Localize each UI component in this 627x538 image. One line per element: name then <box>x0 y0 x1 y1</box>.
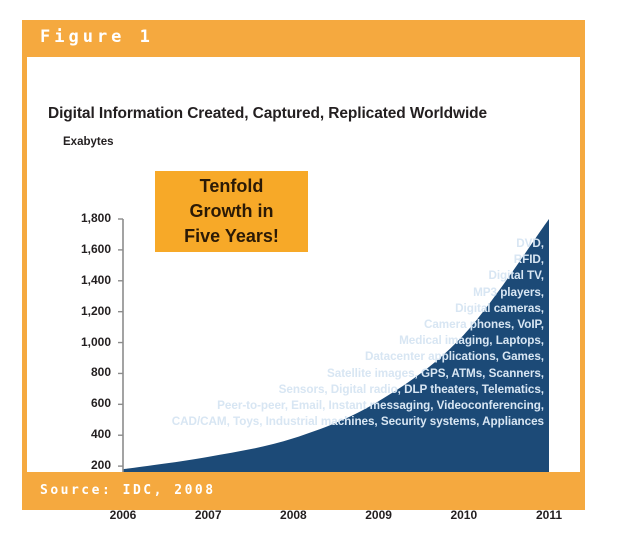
y-axis-tick-label: 200 <box>37 458 111 472</box>
y-axis-tick-label: 400 <box>37 427 111 441</box>
callout-line-2: Growth in <box>190 199 274 224</box>
y-axis-tick-label: 1,000 <box>37 335 111 349</box>
callout-box: Tenfold Growth in Five Years! <box>155 171 308 252</box>
y-axis-tick-label: 1,200 <box>37 304 111 318</box>
figure-source-bar: Source: IDC, 2008 <box>22 472 585 510</box>
callout-line-1: Tenfold <box>200 174 264 199</box>
figure-frame: Figure 1 Digital Information Created, Ca… <box>22 20 585 510</box>
x-axis-tick-label: 2008 <box>253 508 333 522</box>
y-axis-tick-label: 800 <box>37 365 111 379</box>
y-axis-tick-label: 1,800 <box>37 211 111 225</box>
y-axis-tick-label: 1,400 <box>37 273 111 287</box>
figure-body: Digital Information Created, Captured, R… <box>22 57 585 472</box>
x-axis-tick-label: 2009 <box>339 508 419 522</box>
y-axis-unit-label: Exabytes <box>63 136 114 148</box>
callout-line-3: Five Years! <box>184 224 279 249</box>
figure-number-label: Figure 1 <box>40 27 154 47</box>
x-axis-tick-label: 2006 <box>83 508 163 522</box>
figure-header-bar: Figure 1 <box>22 20 585 57</box>
x-axis-tick-label: 2010 <box>424 508 504 522</box>
y-axis-tick-label: 600 <box>37 396 111 410</box>
x-axis-tick-label: 2007 <box>168 508 248 522</box>
y-axis-tick-label: 1,600 <box>37 242 111 256</box>
source-label: Source: IDC, 2008 <box>40 483 216 498</box>
figure-card: Digital Information Created, Captured, R… <box>27 57 580 472</box>
chart-title: Digital Information Created, Captured, R… <box>48 105 487 123</box>
area-series-path <box>123 219 549 472</box>
chart-plot-area: Exabytes 1,8001,6001,4001,2001,000800600… <box>27 137 580 472</box>
x-axis-tick-label: 2011 <box>509 508 589 522</box>
